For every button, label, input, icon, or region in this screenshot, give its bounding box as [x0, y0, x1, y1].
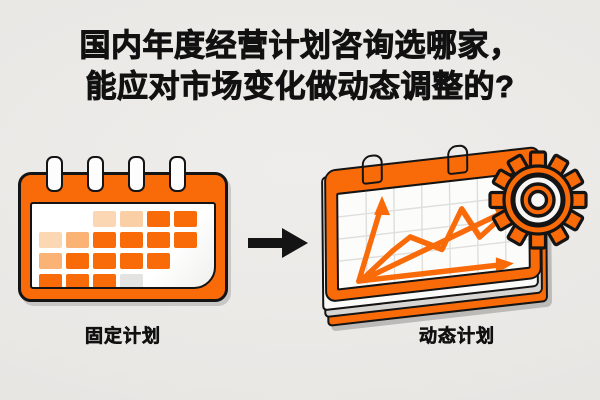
fixed-calendar-grid	[39, 211, 197, 289]
calendar-cell	[93, 211, 116, 227]
calendar-cell	[93, 232, 116, 248]
calendar-cell-empty	[66, 211, 89, 227]
calendar-cell	[39, 232, 62, 248]
fixed-plan-caption: 固定计划	[18, 322, 228, 348]
calendar-ring-icon	[169, 156, 186, 192]
gear-icon	[488, 150, 588, 250]
calendar-cell	[120, 232, 143, 248]
calendar-cell	[174, 232, 197, 248]
fixed-calendar-illustration	[18, 156, 228, 301]
calendar-cell	[66, 232, 89, 248]
calendar-cell	[66, 253, 89, 269]
calendar-cell	[93, 253, 116, 269]
calendar-cell	[66, 274, 89, 289]
calendar-cell	[93, 274, 116, 289]
calendar-cell	[39, 274, 62, 289]
calendar-cell	[174, 211, 197, 227]
page-title-line-1: 国内年度经营计划咨询选哪家，	[0, 26, 600, 67]
calendar-ring-icon	[128, 156, 145, 192]
page-title-line-2: 能应对市场变化做动态调整的?	[0, 67, 600, 108]
calendar-cell	[120, 211, 143, 227]
calendar-cell-empty	[147, 274, 170, 289]
calendar-cell	[147, 232, 170, 248]
calendar-ring-icon	[447, 144, 468, 176]
fixed-calendar-rings	[46, 156, 196, 190]
calendar-ring-icon	[362, 154, 383, 186]
calendar-cell-empty	[174, 253, 197, 269]
calendar-cell	[39, 253, 62, 269]
dynamic-plan-caption: 动态计划	[352, 322, 562, 348]
calendar-cell	[147, 211, 170, 227]
calendar-ring-icon	[87, 156, 104, 192]
calendar-cell	[120, 274, 143, 289]
calendar-cell-empty	[174, 274, 197, 289]
calendar-ring-icon	[46, 156, 63, 192]
page-title: 国内年度经营计划咨询选哪家， 能应对市场变化做动态调整的?	[0, 26, 600, 108]
fixed-calendar-sheet	[30, 202, 216, 289]
calendar-cell-empty	[39, 211, 62, 227]
dynamic-calendar-illustration	[322, 148, 590, 328]
right-arrow-icon	[248, 226, 310, 260]
calendar-cell	[120, 253, 143, 269]
calendar-cell	[147, 253, 170, 269]
